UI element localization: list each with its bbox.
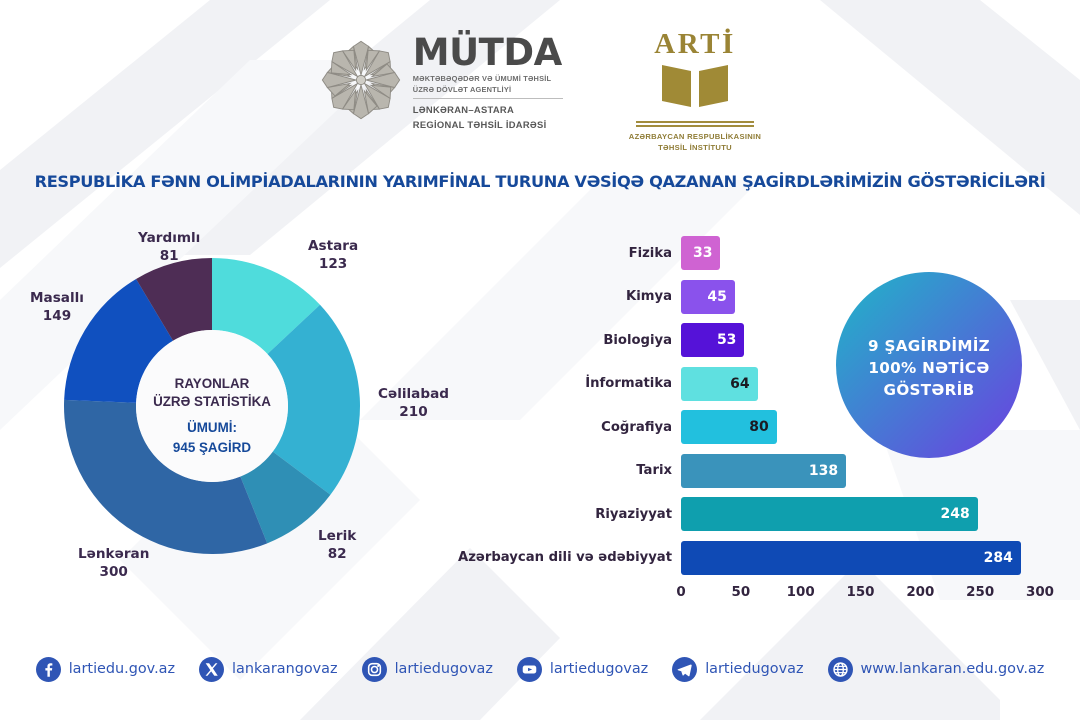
bar-coğrafiya[interactable]: 80 [681,410,777,444]
telegram-icon [672,657,697,682]
donut-label-name: Masallı [30,290,84,306]
bar-value-label: 248 [941,506,970,522]
badge-line-3: GÖSTƏRİB [884,380,975,399]
x-tick-250: 250 [966,585,994,600]
bar-value-label: 284 [984,550,1013,566]
bar-category-label: Biologiya [452,333,681,348]
bar-row: Biologiya53 [452,323,744,357]
x-tick-300: 300 [1026,585,1054,600]
donut-label-name: Lerik [318,528,356,544]
donut-label-value: 210 [378,404,449,422]
donut-center-line-4: 945 ŞAGİRD [173,440,251,455]
bar-track: 53 [681,323,744,357]
header-logos: MÜTDA MƏKTƏBƏQƏDƏR VƏ ÜMUMİ TƏHSİL ÜZRƏ … [0,28,1080,148]
social-link-telegram[interactable]: lartiedugovaz [672,657,803,682]
donut-label-name: Lənkəran [78,546,149,562]
bar-value-label: 64 [730,376,749,392]
star-emblem-icon [319,38,403,122]
result-badge: 9 ŞAGİRDİMİZ 100% NƏTİCƏ GÖSTƏRİB [836,272,1022,458]
donut-label-value: 123 [308,256,358,274]
bar-category-label: Coğrafiya [452,420,681,435]
donut-label-lənkəran: Lənkəran300 [78,546,149,582]
bar-category-label: İnformatika [452,376,681,391]
mutda-region-line1: LƏNKƏRAN–ASTARA [413,104,514,115]
bar-row: Tarix138 [452,454,846,488]
bar-value-label: 45 [707,289,726,305]
social-handle: lartiedu.gov.az [69,661,175,677]
bar-kimya[interactable]: 45 [681,280,735,314]
facebook-icon [36,657,61,682]
bar-chart-x-axis: 050100150200250300 [452,585,1052,611]
bar-biologiya[interactable]: 53 [681,323,744,357]
mutda-agency-name: MƏKTƏBƏQƏDƏR VƏ ÜMUMİ TƏHSİL ÜZRƏ DÖVLƏT… [413,74,563,99]
youtube-icon [517,657,542,682]
bar-fizika[interactable]: 33 [681,236,720,270]
bar-category-label: Riyaziyyat [452,507,681,522]
instagram-icon [362,657,387,682]
mutda-agency-line1: MƏKTƏBƏQƏDƏR VƏ ÜMUMİ TƏHSİL [413,74,551,83]
donut-label-cəlilabad: Cəlilabad210 [378,386,449,422]
mutda-region-line2: REGİONAL TƏHSİL İDARƏSİ [413,119,547,130]
bar-row: İnformatika64 [452,367,758,401]
bar-value-label: 138 [809,463,838,479]
donut-label-astara: Astara123 [308,238,358,274]
bar-track: 45 [681,280,735,314]
donut-label-name: Astara [308,238,358,254]
x-tick-200: 200 [906,585,934,600]
social-link-youtube[interactable]: lartiedugovaz [517,657,648,682]
mutda-agency-line2: ÜZRƏ DÖVLƏT AGENTLİYİ [413,85,511,94]
bar-value-label: 53 [717,332,736,348]
donut-center-line-2: ÜZRƏ STATİSTİKA [153,394,271,409]
bar-track: 284 [681,541,1021,575]
social-handle: lartiedugovaz [705,661,803,677]
page-title: RESPUBLİKA FƏNN OLİMPİADALARININ YARIMFİ… [0,172,1080,191]
social-handle: lartiedugovaz [550,661,648,677]
bar-track: 248 [681,497,978,531]
arti-institute-line1: AZƏRBAYCAN RESPUBLİKASININ [629,132,761,141]
badge-line-1: 9 ŞAGİRDİMİZ [868,336,990,355]
bar-category-label: Azərbaycan dili və ədəbiyyat [452,550,681,565]
mutda-region-name: LƏNKƏRAN–ASTARA REGİONAL TƏHSİL İDARƏSİ [413,103,563,131]
bar-riyaziyyat[interactable]: 248 [681,497,978,531]
donut-label-name: Cəlilabad [378,386,449,402]
social-footer: lartiedu.gov.azlankarangovazlartiedugova… [0,652,1080,686]
donut-label-value: 81 [138,248,200,266]
bar-value-label: 33 [693,245,712,261]
social-link-instagram[interactable]: lartiedugovaz [362,657,493,682]
bar-track: 64 [681,367,758,401]
donut-label-masallı: Masallı149 [30,290,84,326]
x-tick-100: 100 [787,585,815,600]
globe-icon [828,657,853,682]
bar-i̇nformatika[interactable]: 64 [681,367,758,401]
social-handle: www.lankaran.edu.gov.az [861,661,1045,677]
donut-label-value: 300 [78,564,149,582]
open-book-icon [658,59,732,111]
bar-tarix[interactable]: 138 [681,454,846,488]
arti-logo: ARTİ AZƏRBAYCAN RESPUBLİKASININ TƏHSİL İ… [629,28,761,153]
donut-center-line-1: RAYONLAR [175,376,250,391]
donut-center-line-3: ÜMUMİ: [187,420,237,435]
social-handle: lankarangovaz [232,661,338,677]
arti-divider-rules [636,121,754,127]
mutda-logo: MÜTDA MƏKTƏBƏQƏDƏR VƏ ÜMUMİ TƏHSİL ÜZRƏ … [319,28,563,132]
donut-label-yardımlı: Yardımlı81 [138,230,200,266]
bar-track: 33 [681,236,720,270]
x-tick-50: 50 [732,585,751,600]
social-link-x-twitter[interactable]: lankarangovaz [199,657,338,682]
bar-row: Coğrafiya80 [452,410,777,444]
social-link-globe[interactable]: www.lankaran.edu.gov.az [828,657,1045,682]
donut-label-value: 82 [318,546,356,564]
donut-label-value: 149 [30,308,84,326]
badge-line-2: 100% NƏTİCƏ [868,358,989,377]
bar-value-label: 80 [749,419,768,435]
social-handle: lartiedugovaz [395,661,493,677]
donut-label-name: Yardımlı [138,230,200,246]
bar-category-label: Fizika [452,246,681,261]
arti-institute-line2: TƏHSİL İNSTİTUTU [658,143,732,152]
bar-row: Kimya45 [452,280,735,314]
social-link-facebook[interactable]: lartiedu.gov.az [36,657,175,682]
bar-track: 80 [681,410,777,444]
x-tick-150: 150 [847,585,875,600]
arti-wordmark: ARTİ [629,30,761,59]
bar-row: Fizika33 [452,236,720,270]
bar-row: Riyaziyyat248 [452,497,978,531]
donut-label-lerik: Lerik82 [318,528,356,564]
bar-track: 138 [681,454,846,488]
bar-azərbaycan-dili-və-ədəbiyyat[interactable]: 284 [681,541,1021,575]
x-twitter-icon [199,657,224,682]
bar-category-label: Tarix [452,463,681,478]
bar-row: Azərbaycan dili və ədəbiyyat284 [452,541,1021,575]
bar-category-label: Kimya [452,289,681,304]
mutda-wordmark: MÜTDA [413,34,563,71]
x-tick-0: 0 [676,585,685,600]
arti-institute-name: AZƏRBAYCAN RESPUBLİKASININ TƏHSİL İNSTİT… [629,131,761,154]
